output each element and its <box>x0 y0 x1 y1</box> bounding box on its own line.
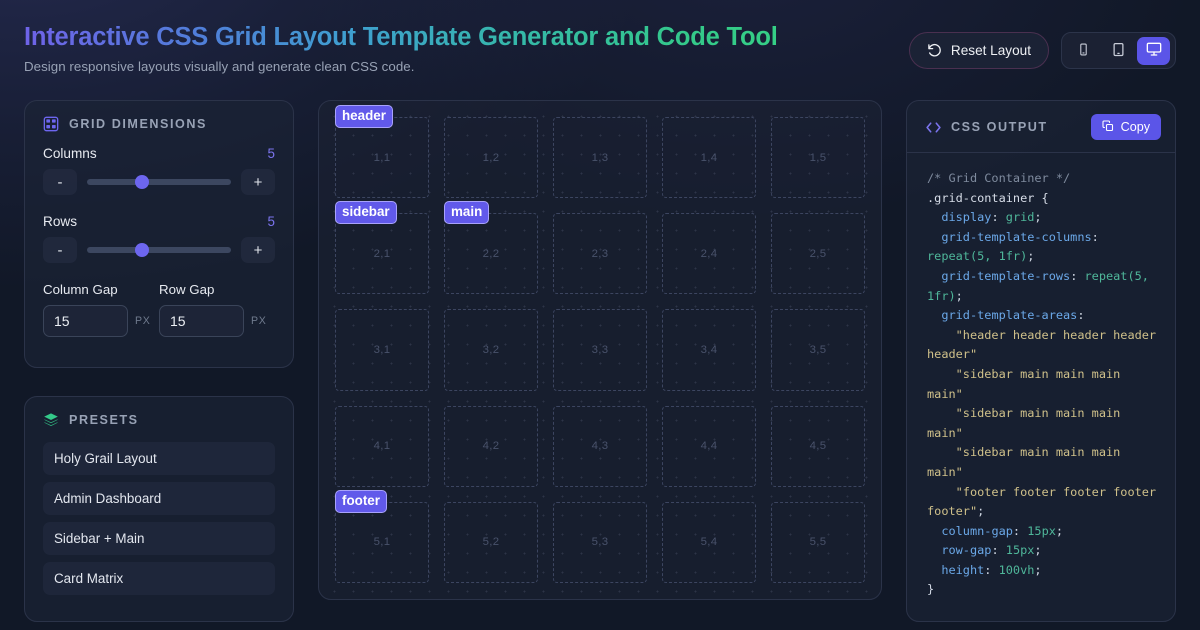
css-token-punct: : <box>1070 269 1084 283</box>
grid-cell-coordinate: 5,2 <box>483 536 500 548</box>
columns-value: 5 <box>268 146 275 161</box>
reset-layout-button[interactable]: Reset Layout <box>909 32 1049 69</box>
reset-layout-label: Reset Layout <box>951 43 1031 58</box>
columns-row: Columns 5 <box>43 146 275 161</box>
grid-cell[interactable]: 5,5 <box>771 502 865 583</box>
css-output-header: CSS Output Copy <box>907 101 1175 153</box>
grid-cell[interactable]: 5,3 <box>553 502 647 583</box>
row-gap-unit: px <box>251 315 267 327</box>
rows-row: Rows 5 <box>43 214 275 229</box>
presets-panel: Presets Holy Grail Layout Admin Dashboar… <box>24 396 294 622</box>
css-token-val: 15px <box>1027 524 1056 538</box>
grid-cell-coordinate: 2,1 <box>374 248 391 260</box>
columns-slider[interactable] <box>87 179 231 185</box>
css-output-panel: CSS Output Copy /* Grid Container */ .gr… <box>906 100 1176 622</box>
copy-css-label: Copy <box>1121 120 1150 134</box>
row-gap-input[interactable] <box>159 305 244 337</box>
css-token-punct <box>927 210 941 224</box>
grid-cell[interactable]: 4,5 <box>771 406 865 487</box>
column-gap-field: Column Gap px <box>43 282 159 337</box>
css-token-punct: : <box>991 210 1005 224</box>
grid-cell[interactable]: 3,5 <box>771 309 865 390</box>
grid-cell[interactable]: 4,3 <box>553 406 647 487</box>
presets-list: Holy Grail Layout Admin Dashboard Sideba… <box>25 442 293 595</box>
grid-area-badge[interactable]: sidebar <box>335 201 397 224</box>
css-token-val: 15px <box>1006 543 1035 557</box>
rows-slider-thumb[interactable] <box>135 243 149 257</box>
css-token-val: repeat(5, 1fr) <box>927 249 1027 263</box>
grid-cell-coordinate: 4,1 <box>374 440 391 452</box>
grid-cell-coordinate: 5,1 <box>374 536 391 548</box>
grid-cell-coordinate: 2,3 <box>592 248 609 260</box>
row-gap-label: Row Gap <box>159 282 275 297</box>
grid-cell-coordinate: 3,2 <box>483 344 500 356</box>
grid-cell-coordinate: 3,3 <box>592 344 609 356</box>
grid-cell-coordinate: 3,4 <box>701 344 718 356</box>
monitor-icon <box>1146 41 1162 60</box>
column-gap-label: Column Gap <box>43 282 159 297</box>
grid-cell-coordinate: 1,1 <box>374 152 391 164</box>
grid-cell[interactable]: 5,2 <box>444 502 538 583</box>
css-token-prop: display <box>941 210 991 224</box>
clipboard-copy-icon <box>1102 120 1114 135</box>
css-code-block: /* Grid Container */ .grid-container { d… <box>907 153 1175 622</box>
preset-item[interactable]: Sidebar + Main <box>43 522 275 555</box>
preset-item[interactable]: Card Matrix <box>43 562 275 595</box>
grid-dimensions-title: Grid Dimensions <box>69 117 207 131</box>
css-token-punct: : <box>991 543 1005 557</box>
css-token-punct <box>927 406 956 420</box>
tablet-icon <box>1111 42 1126 60</box>
columns-label: Columns <box>43 146 97 161</box>
grid-cell[interactable]: 3,3 <box>553 309 647 390</box>
row-gap-input-wrap: px <box>159 305 275 337</box>
columns-control: - + <box>43 169 275 195</box>
rows-label: Rows <box>43 214 77 229</box>
grid-cell[interactable]: 2,5 <box>771 213 865 294</box>
grid-cell[interactable]: 2,3 <box>553 213 647 294</box>
grid-cell[interactable]: 1,4 <box>662 117 756 198</box>
presets-title: Presets <box>69 413 139 427</box>
css-token-sel: .grid-container { <box>927 191 1049 205</box>
grid-cell[interactable]: header1,1 <box>335 117 429 198</box>
css-token-str: "sidebar main main main main" <box>927 367 1127 401</box>
column-gap-unit: px <box>135 315 151 327</box>
grid-area-badge[interactable]: header <box>335 105 393 128</box>
grid-cell-coordinate: 2,4 <box>701 248 718 260</box>
css-token-punct <box>927 367 956 381</box>
code-icon <box>925 119 942 136</box>
header-actions: Reset Layout <box>909 20 1176 69</box>
css-token-punct <box>927 485 956 499</box>
grid-canvas-panel: header1,11,21,31,41,5sidebar2,1main2,22,… <box>318 100 882 600</box>
grid-dimensions-header: Grid Dimensions <box>25 101 293 146</box>
gap-fields: Column Gap px Row Gap px <box>43 282 275 337</box>
grid-cell-coordinate: 4,4 <box>701 440 718 452</box>
rows-decrement-button[interactable]: - <box>43 237 77 263</box>
grid-cell-coordinate: 5,5 <box>810 536 827 548</box>
css-token-val: 100vh <box>999 563 1035 577</box>
grid-cell-coordinate: 4,5 <box>810 440 827 452</box>
css-token-punct <box>927 445 956 459</box>
css-token-str: "header header header header header" <box>927 328 1163 362</box>
rows-increment-button[interactable]: + <box>241 237 275 263</box>
grid-cell-coordinate: 1,4 <box>701 152 718 164</box>
row-gap-field: Row Gap px <box>159 282 275 337</box>
app-header: Interactive CSS Grid Layout Template Gen… <box>0 0 1200 88</box>
grid-cell[interactable]: 3,4 <box>662 309 756 390</box>
grid-area-badge[interactable]: main <box>444 201 489 224</box>
grid-cell[interactable]: 1,5 <box>771 117 865 198</box>
css-token-prop: height <box>941 563 984 577</box>
grid-cell-coordinate: 1,2 <box>483 152 500 164</box>
device-button-desktop[interactable] <box>1137 37 1170 65</box>
column-gap-input[interactable] <box>43 305 128 337</box>
grid-cell[interactable]: 4,4 <box>662 406 756 487</box>
grid-cell[interactable]: 1,2 <box>444 117 538 198</box>
grid-cell-coordinate: 5,3 <box>592 536 609 548</box>
grid-dimensions-body: Columns 5 - + Rows 5 - + Column Gap <box>25 146 293 353</box>
grid-area-badge[interactable]: footer <box>335 490 387 513</box>
preset-item[interactable]: Admin Dashboard <box>43 482 275 515</box>
grid-cell[interactable]: 1,3 <box>553 117 647 198</box>
rows-slider[interactable] <box>87 247 231 253</box>
grid-cell[interactable]: main2,2 <box>444 213 538 294</box>
grid-cell[interactable]: 4,1 <box>335 406 429 487</box>
grid-canvas[interactable]: header1,11,21,31,41,5sidebar2,1main2,22,… <box>335 117 865 583</box>
grid-cell[interactable]: 5,4 <box>662 502 756 583</box>
grid-cell[interactable]: 3,1 <box>335 309 429 390</box>
css-token-punct: : <box>1013 524 1027 538</box>
columns-decrement-button[interactable]: - <box>43 169 77 195</box>
grid-cell-coordinate: 4,2 <box>483 440 500 452</box>
grid-cell-coordinate: 3,5 <box>810 344 827 356</box>
device-button-tablet[interactable] <box>1102 37 1135 65</box>
grid-cell-coordinate: 2,5 <box>810 248 827 260</box>
title-block: Interactive CSS Grid Layout Template Gen… <box>24 20 778 74</box>
presets-header: Presets <box>25 397 293 442</box>
rows-value: 5 <box>268 214 275 229</box>
column-gap-input-wrap: px <box>43 305 159 337</box>
grid-cell[interactable]: 2,4 <box>662 213 756 294</box>
css-output-title: CSS Output <box>951 120 1048 134</box>
css-token-str: "footer footer footer footer footer" <box>927 485 1163 519</box>
layers-icon <box>43 412 59 428</box>
columns-increment-button[interactable]: + <box>241 169 275 195</box>
grid-cell-coordinate: 4,3 <box>592 440 609 452</box>
css-token-str: "sidebar main main main main" <box>927 406 1127 440</box>
grid-cell-coordinate: 1,5 <box>810 152 827 164</box>
page-subtitle: Design responsive layouts visually and g… <box>24 59 778 74</box>
css-token-punct: : <box>1092 230 1106 244</box>
grid-cell-coordinate: 2,2 <box>483 248 500 260</box>
css-token-punct: : <box>984 563 998 577</box>
grid-dimensions-panel: Grid Dimensions Columns 5 - + Rows 5 - + <box>24 100 294 368</box>
css-token-str: "sidebar main main main main" <box>927 445 1127 479</box>
grid-cell-coordinate: 5,4 <box>701 536 718 548</box>
page-title: Interactive CSS Grid Layout Template Gen… <box>24 23 778 52</box>
columns-slider-thumb[interactable] <box>135 175 149 189</box>
preset-item[interactable]: Holy Grail Layout <box>43 442 275 475</box>
css-token-prop: row-gap <box>941 543 991 557</box>
rows-control: - + <box>43 237 275 263</box>
device-button-mobile[interactable] <box>1067 37 1100 65</box>
css-token-prop: grid-template-columns <box>941 230 1091 244</box>
css-token-prop: grid-template-rows <box>941 269 1070 283</box>
grid-cell[interactable]: sidebar2,1 <box>335 213 429 294</box>
css-token-comment: /* Grid Container */ <box>927 171 1070 185</box>
grid-cell[interactable]: 4,2 <box>444 406 538 487</box>
css-token-prop: column-gap <box>941 524 1013 538</box>
copy-css-button[interactable]: Copy <box>1091 114 1161 140</box>
css-token-prop: grid-template-areas <box>941 308 1077 322</box>
device-toggle-group <box>1061 32 1176 69</box>
grid-cell-coordinate: 3,1 <box>374 344 391 356</box>
grid-icon <box>43 116 59 132</box>
grid-cell[interactable]: 3,2 <box>444 309 538 390</box>
rotate-ccw-icon <box>927 43 942 58</box>
css-token-val: grid <box>1006 210 1035 224</box>
grid-cell[interactable]: footer5,1 <box>335 502 429 583</box>
smartphone-icon <box>1077 43 1090 59</box>
grid-cell-coordinate: 1,3 <box>592 152 609 164</box>
